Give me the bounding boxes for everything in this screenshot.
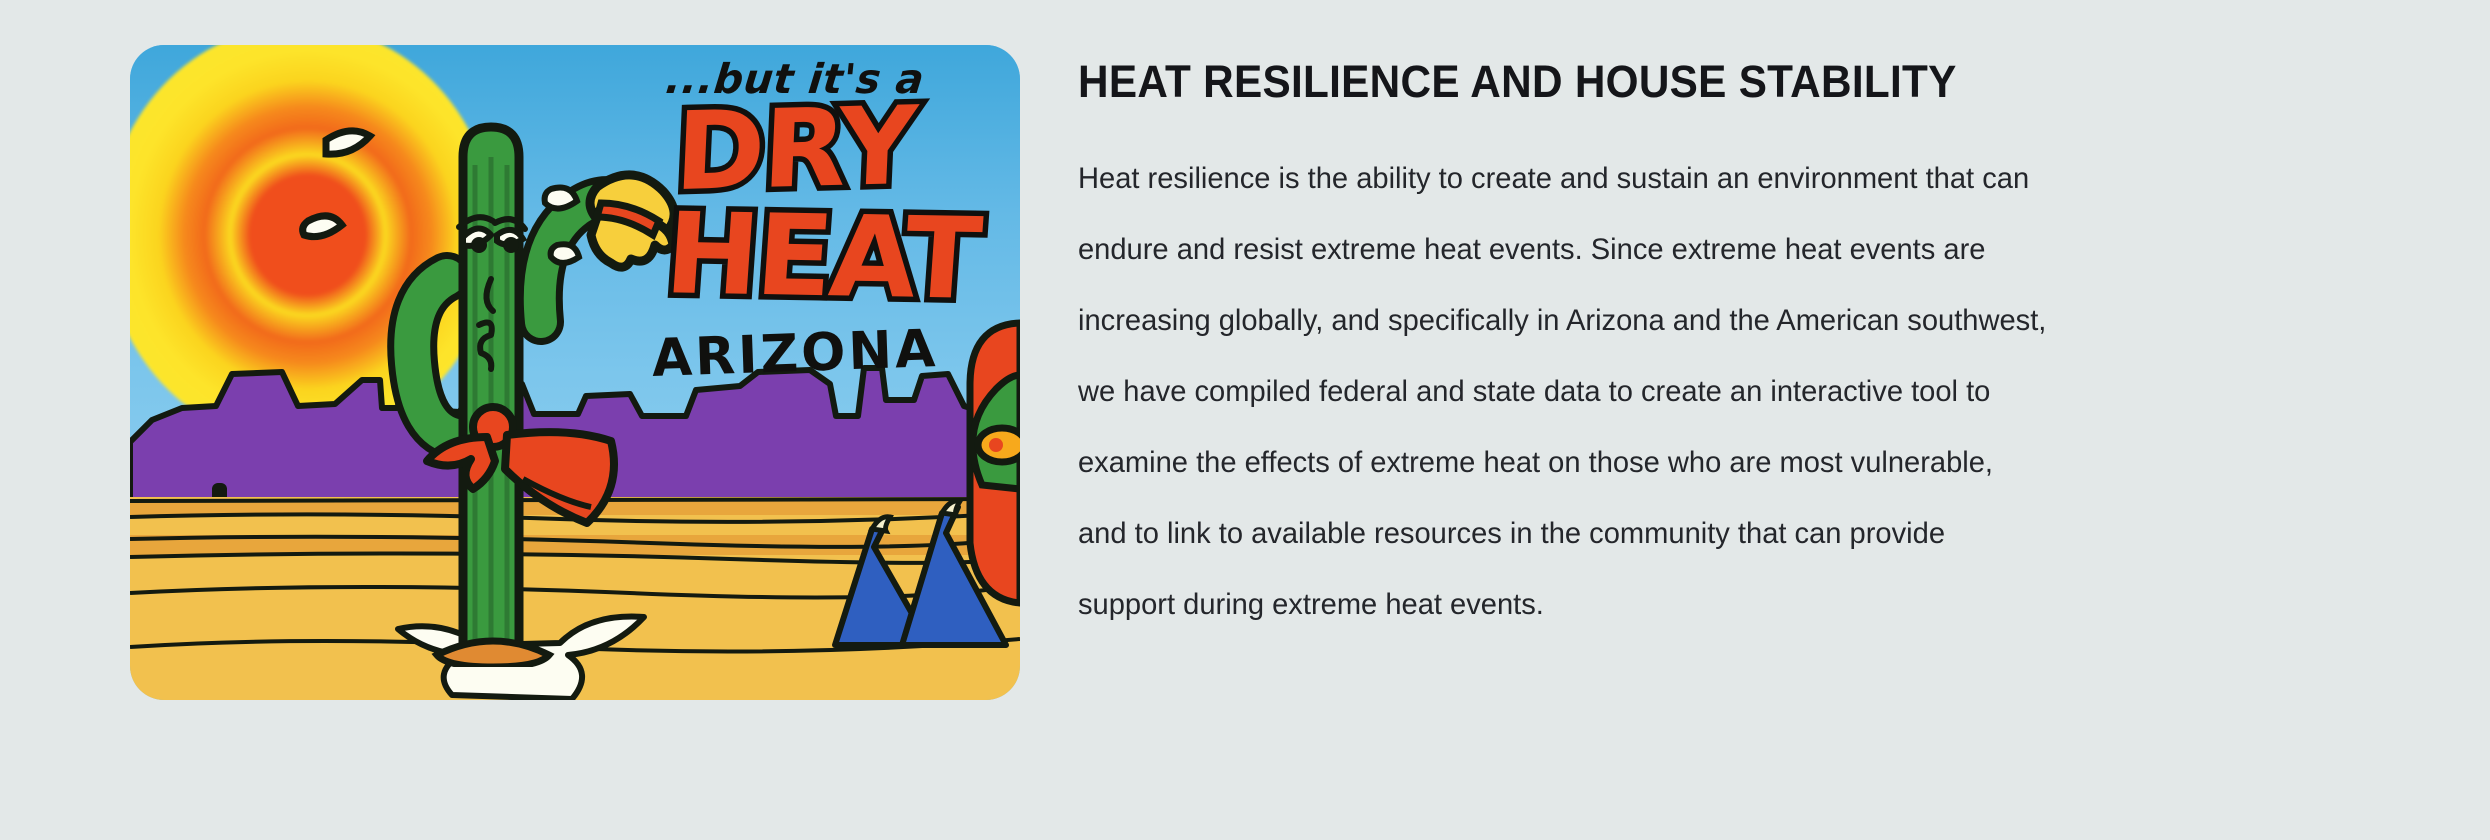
body-line: we have compiled federal and state data …: [1078, 356, 2358, 427]
postcard-lettering: ...but it's a DRY HEAT ARIZONA: [560, 55, 1020, 384]
content-column: HEAT RESILIENCE AND HOUSE STABILITY Heat…: [1078, 58, 2398, 640]
body-line: support during extreme heat events.: [1078, 569, 2358, 640]
postcard-state-label: ARIZONA: [559, 316, 1020, 392]
body-line: increasing globally, and specifically in…: [1078, 285, 2358, 356]
section-heading: HEAT RESILIENCE AND HOUSE STABILITY: [1078, 58, 2319, 105]
section-body: Heat resilience is the ability to create…: [1078, 143, 2398, 640]
dry-heat-postcard-image: ...but it's a DRY HEAT ARIZONA: [130, 45, 1020, 700]
body-line: examine the effects of extreme heat on t…: [1078, 427, 2358, 498]
postcard-word-heat: HEAT: [611, 200, 1020, 314]
body-line: and to link to available resources in th…: [1078, 498, 2358, 569]
postcard-scene: ...but it's a DRY HEAT ARIZONA: [130, 45, 1020, 700]
page-root: ...but it's a DRY HEAT ARIZONA HEAT RESI…: [0, 0, 2490, 840]
body-line: endure and resist extreme heat events. S…: [1078, 214, 2358, 285]
body-line: Heat resilience is the ability to create…: [1078, 143, 2358, 214]
